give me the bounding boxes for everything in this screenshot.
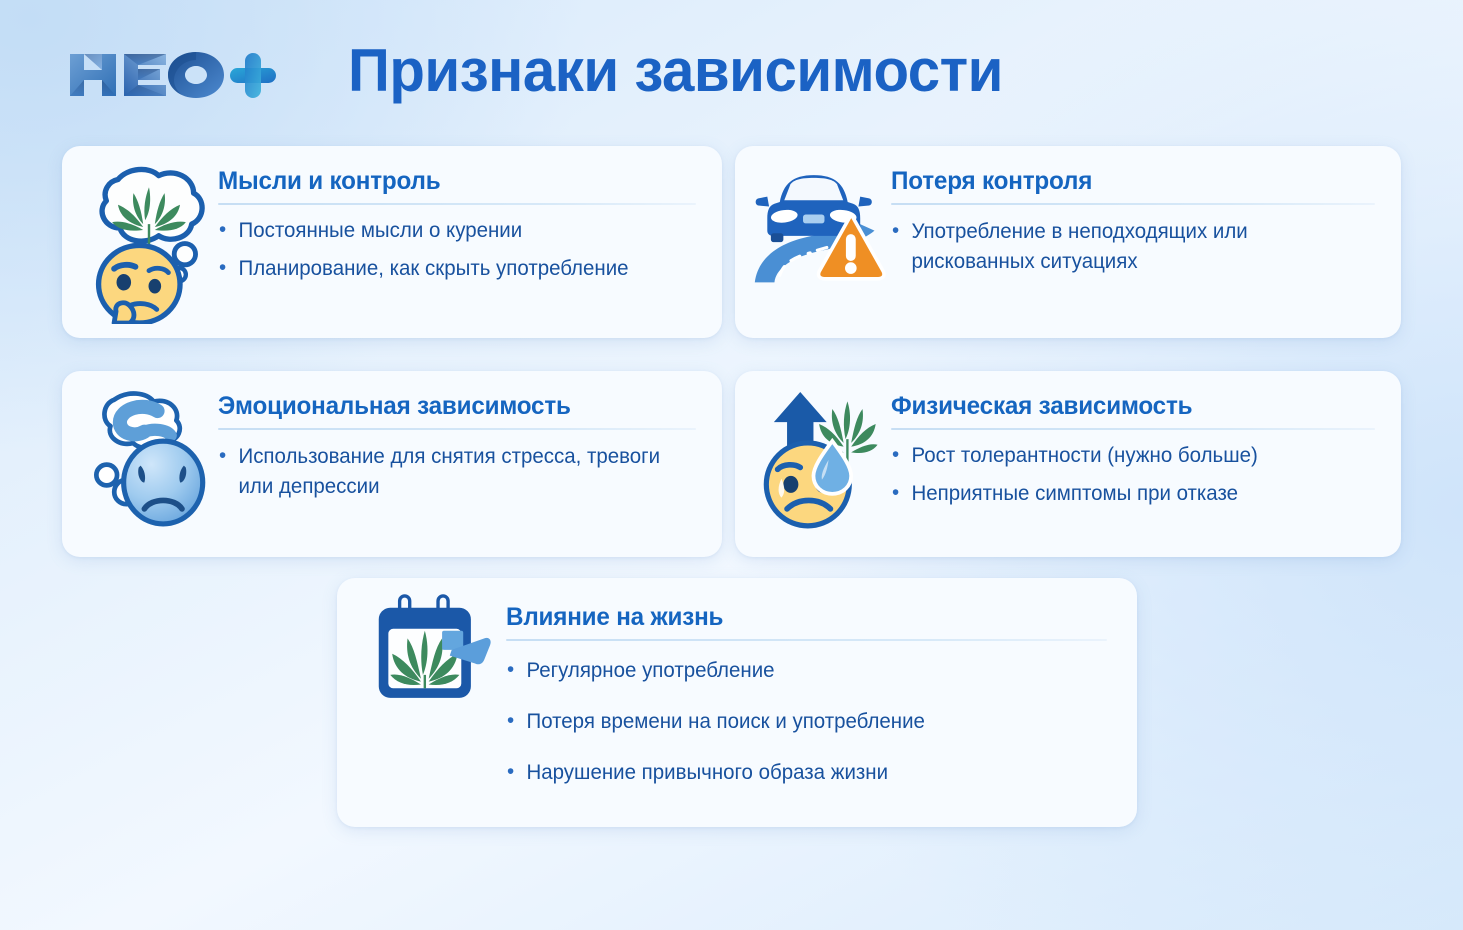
list-item: Рост толерантности (нужно больше) [891,442,1363,470]
card-thoughts-control[interactable]: Мысли и контроль Постоянные мысли о куре… [62,146,722,338]
infographic-poster: Признаки зависимости [0,0,1463,930]
card-loss-of-control[interactable]: Потеря контроля Употребление в неподходя… [735,146,1401,338]
calendar-with-cannabis-leaf-icon [337,578,492,704]
list-item: Неприятные симптомы при отказе [891,480,1363,508]
card-heading: Влияние на жизнь [506,604,1089,630]
card-physical-dependence[interactable]: Физическая зависимость Рост толерантност… [735,371,1401,557]
worried-face-with-up-arrow-cannabis-and-sweat-icon [735,371,887,533]
card-body: Влияние на жизнь Регулярное употребление… [492,578,1137,809]
bullet-list: Употребление в неподходящих или рискован… [891,217,1375,277]
poster-header: Признаки зависимости [0,0,1463,140]
card-heading: Физическая зависимость [891,393,1360,419]
card-emotional-dependence[interactable]: Эмоциональная зависимость Использование … [62,371,722,557]
list-item: Использование для снятия стресса, тревог… [218,442,684,501]
card-body: Физическая зависимость Рост толерантност… [887,371,1401,518]
bullet-list: Регулярное употребление Потеря времени н… [506,657,1107,786]
card-heading: Эмоциональная зависимость [218,393,682,419]
card-heading: Мысли и контроль [218,168,682,194]
card-life-impact[interactable]: Влияние на жизнь Регулярное употребление… [337,578,1137,827]
bullet-list: Рост толерантности (нужно больше) Неприя… [891,442,1375,507]
heading-divider [218,428,696,430]
list-item: Употребление в неподходящих или рискован… [891,217,1363,277]
sad-blue-face-with-thought-cloud-icon [62,371,214,533]
thinking-face-with-cannabis-thought-bubble-icon [62,146,214,324]
list-item: Потеря времени на поиск и употребление [506,708,1092,736]
card-heading: Потеря контроля [891,168,1360,194]
page-title: Признаки зависимости [348,36,1003,105]
heading-divider [891,203,1375,205]
card-body: Потеря контроля Употребление в неподходя… [887,146,1401,287]
bullet-list: Постоянные мысли о курении Планирование,… [218,217,696,282]
neo-plus-logo [62,44,277,106]
bullet-list: Использование для снятия стресса, тревог… [218,442,696,501]
list-item: Регулярное употребление [506,657,1092,685]
card-body: Эмоциональная зависимость Использование … [214,371,722,511]
list-item: Нарушение привычного образа жизни [506,759,1092,787]
heading-divider [506,639,1107,641]
card-body: Мысли и контроль Постоянные мысли о куре… [214,146,722,293]
list-item: Планирование, как скрыть употребление [218,255,684,283]
car-on-road-with-warning-triangle-icon [735,146,887,292]
list-item: Постоянные мысли о курении [218,217,684,245]
heading-divider [218,203,696,205]
heading-divider [891,428,1375,430]
